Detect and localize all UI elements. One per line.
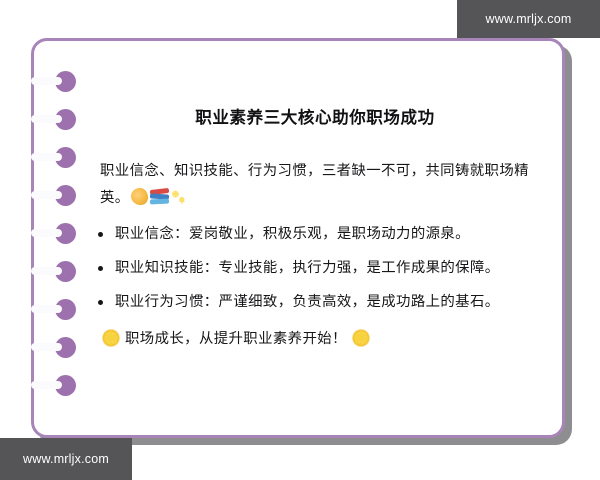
watermark-bottom-left: www.mrljx.com <box>0 438 132 480</box>
page-title: 职业素养三大核心助你职场成功 <box>96 104 534 128</box>
spiral-ring <box>55 261 76 282</box>
list-item-text: 职业知识技能：专业技能，执行力强，是工作成果的保障。 <box>115 260 500 276</box>
bicep-icon <box>131 188 148 205</box>
sparkles-icon <box>171 189 186 205</box>
books-icon <box>150 189 169 205</box>
bullet-dot-icon <box>98 266 103 271</box>
spiral-ring <box>55 223 76 244</box>
watermark-text: www.mrljx.com <box>23 452 109 466</box>
list-item: 职业行为习惯：严谨细致，负责高效，是成功路上的基石。 <box>96 289 534 316</box>
intro-paragraph: 职业信念、知识技能、行为习惯，三者缺一不可，共同铸就职场精英。 <box>100 158 534 212</box>
star-icon-right <box>352 329 370 347</box>
watermark-text: www.mrljx.com <box>486 12 572 26</box>
spiral-binding <box>34 41 94 435</box>
spiral-ring <box>55 375 76 396</box>
list-item-text: 职业信念：爱岗敬业，积极乐观，是职场动力的源泉。 <box>115 226 470 242</box>
list-item: 职业知识技能：专业技能，执行力强，是工作成果的保障。 <box>96 255 534 282</box>
spiral-ring <box>55 185 76 206</box>
list-item-text: 职业行为习惯：严谨细致，负责高效，是成功路上的基石。 <box>115 294 500 310</box>
spiral-ring <box>55 337 76 358</box>
closing-text: 职场成长，从提升职业素养开始！ <box>125 331 347 347</box>
card-content: 职业素养三大核心助你职场成功 职业信念、知识技能、行为习惯，三者缺一不可，共同铸… <box>96 59 534 417</box>
spiral-ring <box>55 71 76 92</box>
spiral-ring <box>55 147 76 168</box>
list-item: 职业信念：爱岗敬业，积极乐观，是职场动力的源泉。 <box>96 221 534 248</box>
notebook-card: 职业素养三大核心助你职场成功 职业信念、知识技能、行为习惯，三者缺一不可，共同铸… <box>31 38 565 438</box>
bullet-dot-icon <box>98 300 103 305</box>
closing-line: 职场成长，从提升职业素养开始！ <box>102 326 534 353</box>
bullet-list: 职业信念：爱岗敬业，积极乐观，是职场动力的源泉。 职业知识技能：专业技能，执行力… <box>96 221 534 316</box>
star-icon-left <box>102 329 120 347</box>
spiral-ring <box>55 299 76 320</box>
bullet-dot-icon <box>98 232 103 237</box>
watermark-top-right: www.mrljx.com <box>457 0 600 38</box>
spiral-ring <box>55 109 76 130</box>
